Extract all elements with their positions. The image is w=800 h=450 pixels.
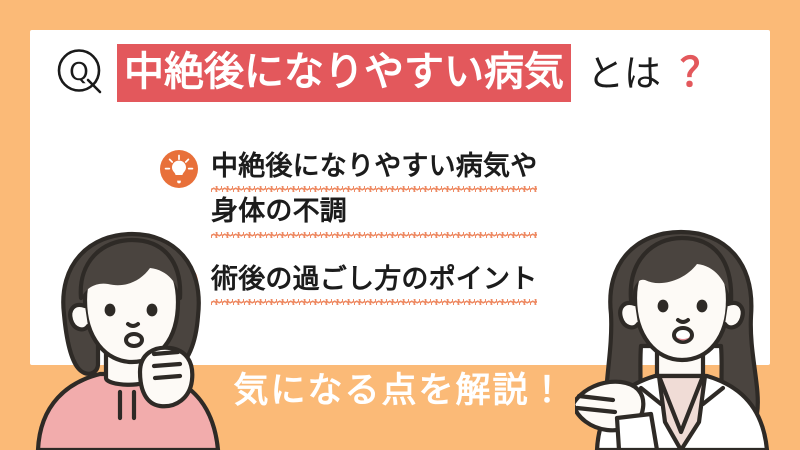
list-item-text: 中絶後になりやすい病気や 身体の不調	[211, 148, 537, 239]
list-item-text: 術後の過ごし方のポイント	[211, 261, 537, 306]
title-row: Q 中絶後になりやすい病気 とは ？	[55, 42, 720, 104]
doctor-explaining-illustration	[575, 218, 790, 450]
lightbulb-icon	[160, 150, 198, 188]
circled-q-magnifier-icon: Q	[55, 47, 107, 99]
title-tail-text: とは	[581, 55, 661, 92]
woman-thinking-illustration	[28, 222, 238, 450]
title-question-mark: ？	[671, 53, 720, 93]
title-highlight-text: 中絶後になりやすい病気	[117, 44, 571, 102]
list-item-line: 中絶後になりやすい病気や	[211, 148, 537, 192]
svg-text:Q: Q	[69, 57, 89, 86]
list-item-line: 身体の不調	[211, 193, 537, 237]
bottom-caption: 気になる点を解説！	[0, 374, 800, 409]
list-item-line: 術後の過ごし方のポイント	[211, 261, 537, 305]
banner-root: Q 中絶後になりやすい病気 とは ？	[0, 0, 800, 450]
